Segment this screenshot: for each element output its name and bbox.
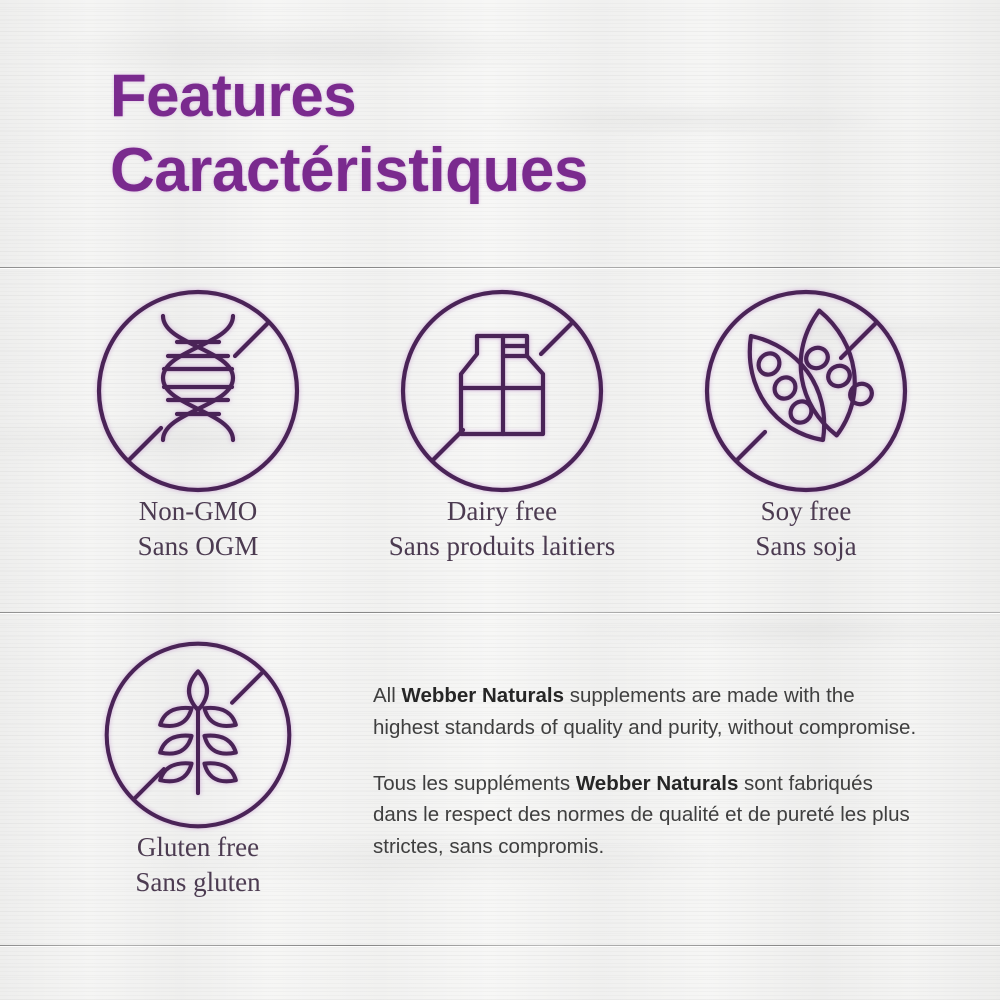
feature-caption: Soy free Sans soja: [656, 494, 956, 563]
page-title-english: Features: [110, 66, 588, 126]
statement-fr-prefix: Tous les suppléments: [373, 772, 576, 795]
feature-gluten-free: Gluten free Sans gluten: [48, 640, 348, 899]
no-gluten-wheat-icon: [103, 640, 293, 830]
feature-non-gmo: Non-GMO Sans OGM: [48, 288, 348, 563]
page-title: Features Caractéristiques: [110, 66, 588, 202]
feature-caption: Non-GMO Sans OGM: [48, 494, 348, 563]
no-soy-pods-icon: [703, 288, 909, 494]
feature-label-french: Sans soja: [656, 529, 956, 564]
feature-label-english: Non-GMO: [48, 494, 348, 529]
feature-label-english: Soy free: [656, 494, 956, 529]
feature-caption: Gluten free Sans gluten: [48, 830, 348, 899]
page-title-french: Caractéristiques: [110, 140, 588, 202]
feature-label-english: Dairy free: [352, 494, 652, 529]
feature-dairy-free: Dairy free Sans produits laitiers: [352, 288, 652, 563]
feature-label-french: Sans produits laitiers: [352, 529, 652, 564]
no-dairy-milk-carton-icon: [399, 288, 605, 494]
feature-label-french: Sans OGM: [48, 529, 348, 564]
feature-label-french: Sans gluten: [48, 865, 348, 900]
brand-statement-english: All Webber Naturals supplements are made…: [373, 680, 918, 744]
feature-soy-free: Soy free Sans soja: [656, 288, 956, 563]
brand-name-en: Webber Naturals: [401, 684, 564, 707]
feature-caption: Dairy free Sans produits laitiers: [352, 494, 652, 563]
brand-statement-french: Tous les suppléments Webber Naturals son…: [373, 768, 918, 863]
feature-label-english: Gluten free: [48, 830, 348, 865]
features-panel: Features Caractéristiques: [0, 0, 1000, 1000]
brand-name-fr: Webber Naturals: [576, 772, 739, 795]
brand-statement: All Webber Naturals supplements are made…: [373, 680, 918, 863]
no-gmo-dna-icon: [95, 288, 301, 494]
statement-en-prefix: All: [373, 684, 401, 707]
